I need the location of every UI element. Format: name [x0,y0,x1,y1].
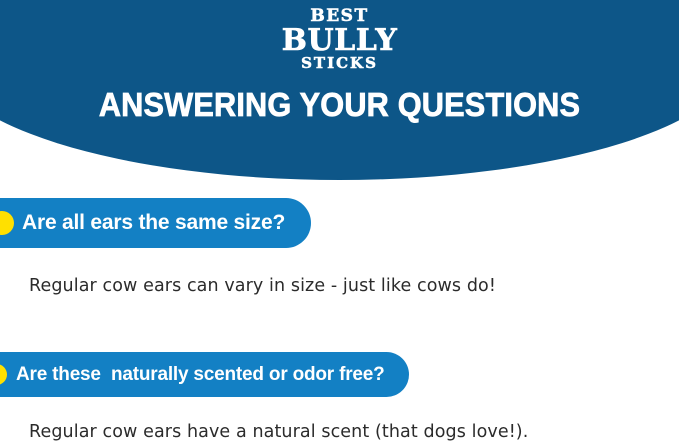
answer-text: Regular cow ears can vary in size - just… [29,276,496,296]
bullet-dot-icon [0,211,14,235]
page-title: ANSWERING YOUR QUESTIONS [24,86,655,124]
answer-text: Regular cow ears have a natural scent (t… [29,422,528,442]
header-band: BEST BULLY STICKS ANSWERING YOUR QUESTIO… [0,0,679,180]
question-pill[interactable]: Are all ears the same size? [0,198,311,248]
faq-entry: Are these naturally scented or odor free… [0,352,449,397]
question-pill[interactable]: Are these naturally scented or odor free… [0,352,409,397]
brand-logo: BEST BULLY STICKS [0,8,679,71]
question-text: Are all ears the same size? [22,211,285,235]
faq-entry: Are all ears the same size? Regular cow … [0,198,351,248]
question-text: Are these naturally scented or odor free… [16,364,385,386]
faq-infographic: BEST BULLY STICKS ANSWERING YOUR QUESTIO… [0,0,679,448]
logo-line-sticks: STICKS [0,56,679,71]
logo-line-bully: BULLY [0,26,679,56]
bullet-dot-icon [0,364,7,385]
header-content: BEST BULLY STICKS ANSWERING YOUR QUESTIO… [0,0,679,180]
